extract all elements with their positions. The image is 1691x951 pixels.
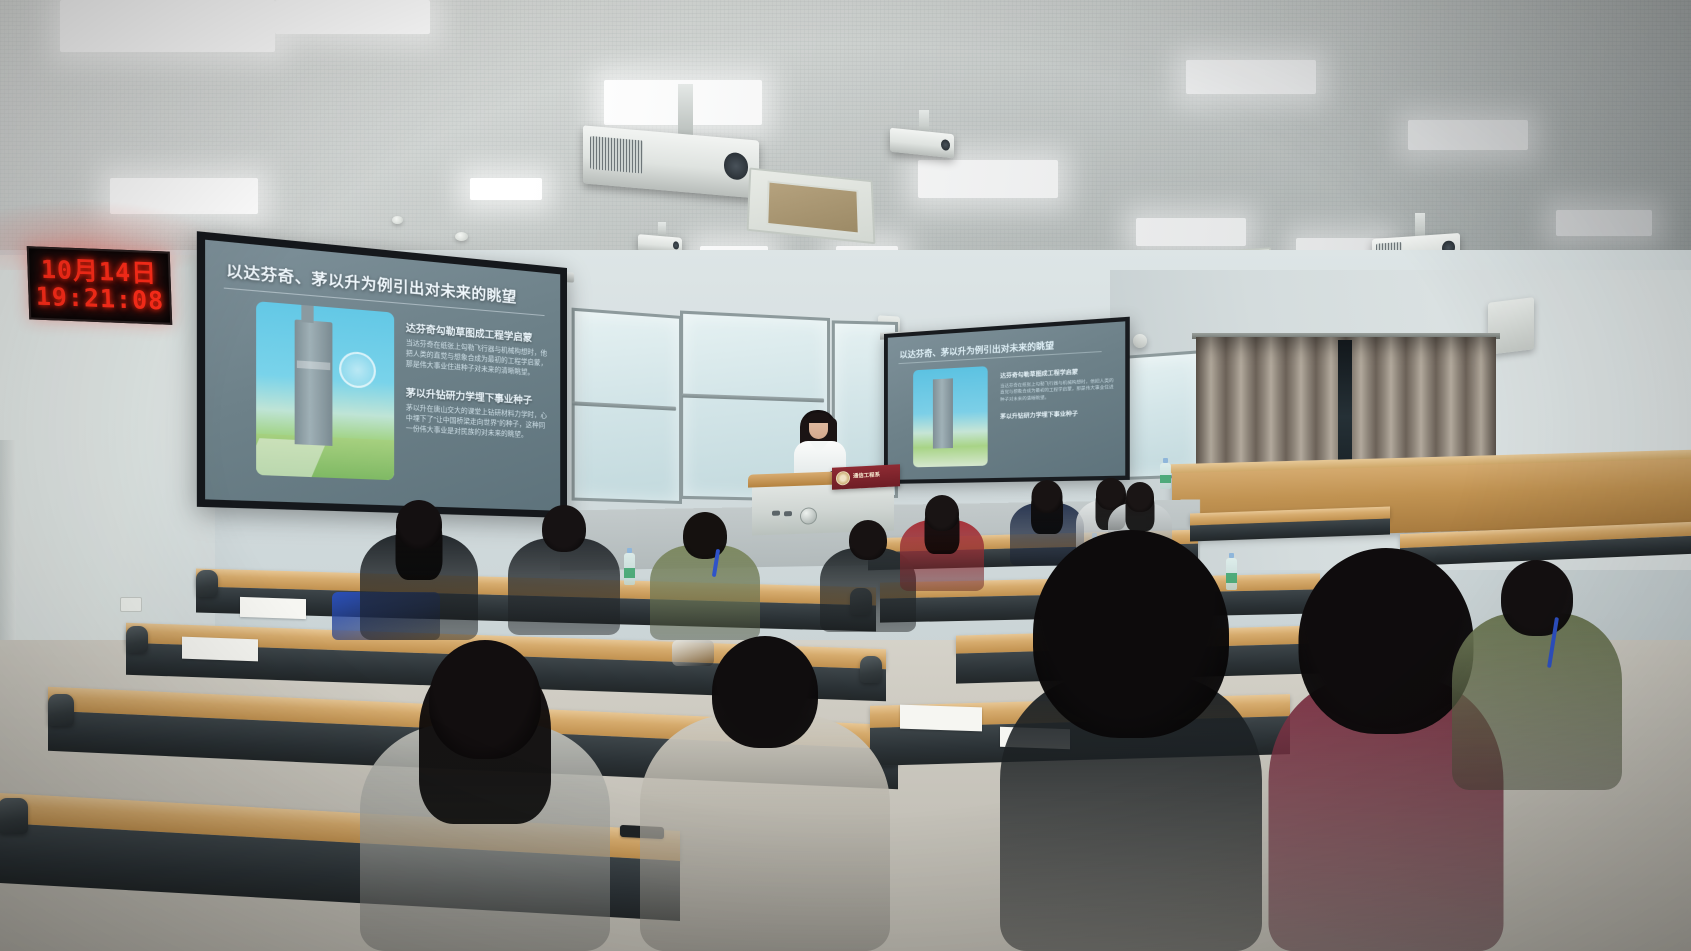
led-clock-time: 19:21:08: [35, 283, 164, 314]
ac-grille: [766, 180, 859, 234]
person-head: [1501, 560, 1573, 636]
ceiling-ac-cassette-left: [747, 168, 876, 245]
person-head: [1032, 480, 1063, 513]
projector-vent: [590, 136, 643, 173]
slide-illustration-right: [913, 366, 988, 467]
slide-section-body-1-right: 当达芬奇在纸张上勾勒飞行器与机械构想时，他把人类的直觉与想象合成为最初的工程学启…: [1000, 377, 1116, 403]
paper-sheet-second-left: [182, 637, 258, 662]
illustration-tower-right: [933, 378, 953, 448]
student-row2-green: [650, 512, 760, 640]
lectern-control-button[interactable]: [784, 511, 792, 516]
person-head: [1033, 530, 1229, 738]
desk-end-cap: [0, 798, 28, 834]
slide-section-heading-2-right: 茅以升钻研力学埋下事业种子: [1000, 407, 1116, 420]
person-torso: [508, 538, 620, 635]
student-row2-left: [360, 500, 478, 640]
student-camo-right: [1452, 560, 1622, 790]
slide-section-body-1: 当达芬奇在纸张上勾勒飞行器与机械构想时，他把人类的直觉与想象合成为最初的工程学启…: [406, 339, 551, 381]
desk-end-cap: [126, 626, 148, 653]
projector-lens-icon: [724, 152, 749, 181]
smoke-detector-icon: [455, 232, 468, 241]
slide-illustration: [256, 301, 394, 480]
student-row2-center: [508, 505, 620, 635]
person-head: [1126, 482, 1154, 512]
led-wall-clock: 10月14日 19:21:08: [27, 246, 172, 325]
paper-sheet-right: [900, 705, 982, 732]
person-head: [396, 500, 442, 549]
projection-screen-right: 以达芬奇、茅以升为例引出对未来的眺望 达芬奇勾勒草图成工程学启蒙 当达芬奇在纸张…: [884, 317, 1130, 484]
lectern-control-button[interactable]: [772, 511, 780, 516]
illustration-ferris-wheel-icon: [339, 351, 376, 389]
person-torso: [1452, 613, 1622, 790]
student-front-right-big: [1000, 530, 1262, 951]
paper-sheet-front-left: [240, 597, 306, 619]
slide-section-body-2: 茅以升在唐山交大的课堂上钻研材料力学时，心中埋下了"让中国桥梁走向世界"的种子，…: [406, 403, 551, 442]
presenter-fringe: [807, 413, 830, 423]
lectern-sign: 通信工程系: [832, 464, 900, 490]
illustration-tower: [295, 319, 333, 446]
projector-lens-icon: [673, 241, 679, 249]
curtain-gap: [1338, 340, 1352, 468]
desk-end-cap: [196, 570, 218, 597]
lectern-sign-text: 通信工程系: [853, 473, 880, 480]
slide-text-column-right: 达芬奇勾勒草图成工程学启蒙 当达芬奇在纸张上勾勒飞行器与机械构想时，他把人类的直…: [1000, 365, 1116, 423]
ceiling-camera-icon: [1133, 334, 1147, 348]
desk-end-cap: [48, 694, 74, 726]
person-head: [712, 636, 818, 748]
person-head: [925, 495, 959, 531]
slide-text-column: 达芬奇勾勒草图成工程学启蒙 当达芬奇在纸张上勾勒飞行器与机械构想时，他把人类的直…: [406, 320, 551, 456]
projection-screen-main: 以达芬奇、茅以升为例引出对未来的眺望 达芬奇勾勒草图成工程学启蒙 当达芬奇在纸张…: [197, 231, 567, 518]
person-head: [542, 505, 586, 552]
student-front-gray-right: [640, 636, 890, 951]
person-head: [849, 520, 887, 560]
lectern-knob[interactable]: [800, 507, 817, 525]
person-head: [683, 512, 727, 559]
smoke-detector-icon: [392, 216, 403, 224]
wall-outlet: [120, 597, 142, 612]
person-head: [429, 640, 541, 759]
student-red-shirt: [900, 495, 984, 591]
presentation-slide: 以达芬奇、茅以升为例引出对未来的眺望 达芬奇勾勒草图成工程学启蒙 当达芬奇在纸张…: [205, 240, 560, 511]
person-head: [1298, 548, 1473, 734]
lecture-hall-photo: 10月14日 19:21:08 以达芬奇、茅以升为例引出对未来的眺望 达芬奇勾勒…: [0, 0, 1691, 951]
student-front-gray-left: [360, 640, 610, 951]
bottle-label: [624, 568, 635, 578]
person-torso: [640, 714, 890, 951]
person-torso: [650, 545, 760, 640]
projector-mount-pole: [678, 84, 693, 136]
water-bottle-desk-a: [624, 553, 635, 585]
whiteboard-panel-far-right: [1122, 350, 1202, 480]
presentation-slide-duplicate: 以达芬奇、茅以升为例引出对未来的眺望 达芬奇勾勒草图成工程学启蒙 当达芬奇在纸张…: [888, 321, 1125, 480]
school-emblem-icon: [836, 471, 850, 486]
projector-lens-icon: [941, 139, 950, 151]
